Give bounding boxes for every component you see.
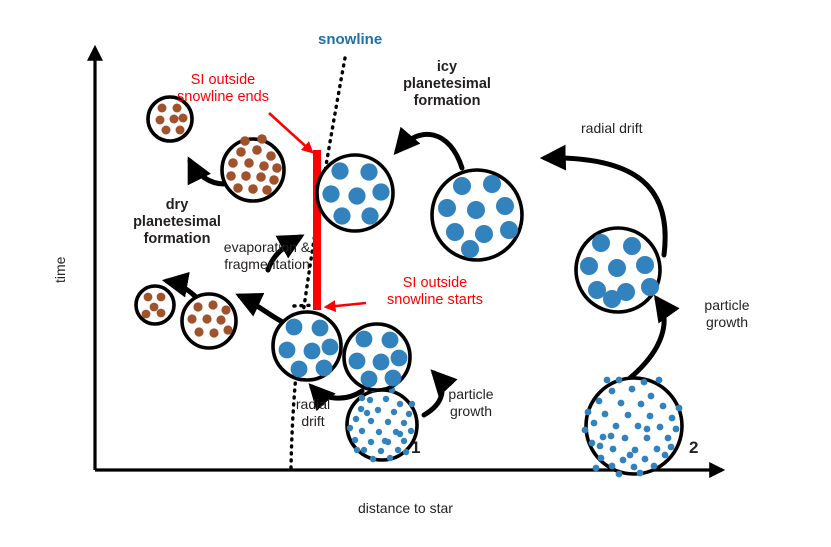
marker-two-label: 2 — [689, 438, 698, 458]
clump-1-grown — [344, 324, 410, 390]
clump-1-small-dust — [347, 386, 417, 462]
radial-drift-bottom-label: radial drift — [281, 396, 345, 429]
particle-growth-outer-label: particle growth — [691, 297, 763, 330]
si-window-bar — [313, 150, 321, 310]
si-starts-label: SI outside snowline starts — [365, 275, 505, 309]
si-ends-label: SI outside snowline ends — [148, 72, 298, 106]
marker-one-label: 1 — [411, 438, 420, 458]
evaporation-fragmentation-label: evaporation & fragmentation — [204, 239, 330, 272]
clump-icy-planetesimal — [317, 155, 393, 231]
arrow-evaporation-fragmentation — [240, 296, 288, 325]
arrow-icy-formation — [397, 134, 462, 168]
clump-dry-small — [136, 286, 174, 324]
particle-growth-inner-label: particle growth — [435, 386, 507, 419]
y-axis-label: time — [52, 257, 69, 283]
icy-formation-label: icy planetesimal formation — [377, 59, 517, 110]
x-axis-label: distance to star — [358, 500, 453, 517]
figure-canvas: snowline SI outside snowline ends SI out… — [0, 0, 831, 547]
clump-dry-mid — [222, 134, 284, 201]
si-starts-arrow — [326, 303, 366, 307]
arrow-dry-mid-to-top — [190, 161, 224, 184]
clump-dry-frag-large — [182, 294, 236, 348]
clump-drift-in — [432, 170, 522, 260]
arrow-particle-growth-outer — [630, 299, 664, 378]
radial-drift-top-label: radial drift — [581, 120, 642, 137]
clump-outer-grown — [576, 228, 660, 312]
snowline-label: snowline — [318, 31, 382, 49]
clump-inside-snowline — [273, 312, 341, 380]
clump-2-small-dust — [582, 377, 683, 478]
